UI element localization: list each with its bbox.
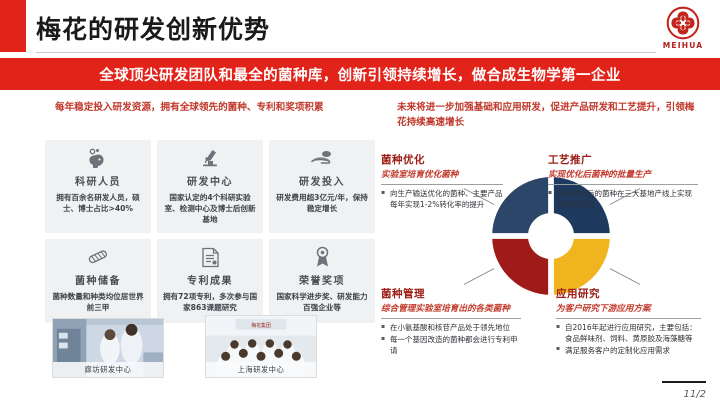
quadrant-strain-management: 菌种管理 综合管理实验室培育出的各类菌种 在小氨基酸和核苷产品处于领先地位 每一… [381,286,521,358]
quadrant-bullet-list: 保证优化后的菌种在三大基地产线上实现规模化应用 [548,189,698,210]
quadrant-strain-optimization: 菌种优化 实验室培育优化菌种 向生产输送优化的菌种、主要产品每年实现1-2%转化… [381,152,503,212]
card-title: 菌种储备 [50,272,146,287]
langfang-rd-center-photo: 廊坊研发中心 [52,318,164,378]
quadrant-divider [381,184,503,185]
bullet-item: 每一个基因改造的菌种都会进行专利申请 [381,335,521,356]
headline-banner-text: 全球顶尖研发团队和最全的菌种库，创新引领持续增长，做合成生物学第一企业 [99,64,621,85]
svg-text:梅花集团: 梅花集团 [251,322,271,329]
card-title: 专利成果 [162,272,258,287]
header-accent-bar [0,0,26,52]
quadrant-title: 应用研究 [556,286,701,301]
page-number: 11/2 [684,389,706,400]
quadrant-title: 菌种优化 [381,152,503,167]
card-title: 研发投入 [274,173,370,188]
quadrant-process-promotion: 工艺推广 实现优化后菌种的批量生产 保证优化后的菌种在三大基地产线上实现规模化应… [548,152,698,212]
quadrant-divider [556,318,701,319]
quadrant-bullet-list: 自2016年起进行应用研究，主要包括：食品鲜味剂、饲料、黄原胶及海藻糖等 满足服… [556,323,701,356]
quadrant-title: 菌种管理 [381,286,521,301]
bacteria-strain-icon [50,246,146,268]
quadrant-divider [548,184,698,185]
slide-root: 梅花的研发创新优势 MEIHUA 全球顶尖研发团队和最全的菌种库，创新引领持续增… [0,0,720,405]
researcher-head-gear-icon [50,147,146,169]
photo-caption: 上海研发中心 [206,362,316,377]
quadrant-divider [381,318,521,319]
hand-coin-icon [274,147,370,169]
shanghai-rd-center-photo: 梅花集团 上海研发中心 [205,315,317,378]
award-ribbon-icon [274,246,370,268]
card-desc: 菌种数量和种类均位居世界前三甲 [50,291,146,313]
page-title: 梅花的研发创新优势 [36,10,270,46]
bullet-item: 自2016年起进行应用研究，主要包括：食品鲜味剂、饲料、黄原胶及海藻糖等 [556,323,701,344]
card-rd-centers[interactable]: 研发中心 国家认定的4个科研实验室、检测中心及博士后创新基地 [157,140,263,233]
card-researchers[interactable]: 科研人员 拥有百余名研发人员，硕士、博士占比>40% [45,140,151,233]
right-lead-text: 未来将进一步加强基础和应用研发，促进产品研发和工艺提升，引领梅花持续高速增长 [397,101,697,131]
card-desc: 国家认定的4个科研实验室、检测中心及博士后创新基地 [162,192,258,225]
card-desc: 拥有72项专利，多次参与国家863课题研究 [162,291,258,313]
headline-banner: 全球顶尖研发团队和最全的菌种库，创新引领持续增长，做合成生物学第一企业 [0,58,720,90]
quadrant-subtitle: 实验室培育优化菌种 [381,168,503,182]
capability-card-grid: 科研人员 拥有百余名研发人员，硕士、博士占比>40% 研发中心 国家认定的4个科… [45,140,375,323]
microscope-icon [162,147,258,169]
photo-caption: 廊坊研发中心 [53,362,163,377]
logo-wordmark: MEIHUA [656,41,710,50]
quadrant-subtitle: 实现优化后菌种的批量生产 [548,168,698,182]
bullet-item: 保证优化后的菌种在三大基地产线上实现规模化应用 [548,189,698,210]
patent-document-icon [162,246,258,268]
quadrant-subtitle: 为客户研究下游应用方案 [556,302,701,316]
brand-logo: MEIHUA [656,6,710,50]
card-rd-investment[interactable]: 研发投入 研发费用超3亿元/年，保持稳定增长 [269,140,375,233]
card-strain-reserve[interactable]: 菌种储备 菌种数量和种类均位居世界前三甲 [45,239,151,323]
left-lead-text: 每年稳定投入研发资源，拥有全球领先的菌种、专利和奖项积累 [55,101,355,116]
card-title: 荣誉奖项 [274,272,370,287]
quadrant-application-research: 应用研究 为客户研究下游应用方案 自2016年起进行应用研究，主要包括：食品鲜味… [556,286,701,358]
donut-hole [528,213,574,259]
card-title: 研发中心 [162,173,258,188]
quadrant-subtitle: 综合管理实验室培育出的各类菌种 [381,302,521,316]
quadrant-bullet-list: 向生产输送优化的菌种、主要产品每年实现1-2%转化率的提升 [381,189,503,210]
card-title: 科研人员 [50,173,146,188]
bullet-item: 满足服务客户的定制化应用需求 [556,346,701,357]
card-desc: 研发费用超3亿元/年，保持稳定增长 [274,192,370,214]
card-desc: 拥有百余名研发人员，硕士、博士占比>40% [50,192,146,214]
card-patents[interactable]: 专利成果 拥有72项专利，多次参与国家863课题研究 [157,239,263,323]
header-divider [36,52,656,53]
card-honors[interactable]: 荣誉奖项 国家科学进步奖、研发能力百强企业等 [269,239,375,323]
bullet-item: 向生产输送优化的菌种、主要产品每年实现1-2%转化率的提升 [381,189,503,210]
card-desc: 国家科学进步奖、研发能力百强企业等 [274,291,370,313]
meihua-logo-icon [666,6,700,40]
footer-rule [662,381,706,383]
quadrant-title: 工艺推广 [548,152,698,167]
quadrant-bullet-list: 在小氨基酸和核苷产品处于领先地位 每一个基因改造的菌种都会进行专利申请 [381,323,521,356]
bullet-item: 在小氨基酸和核苷产品处于领先地位 [381,323,521,334]
